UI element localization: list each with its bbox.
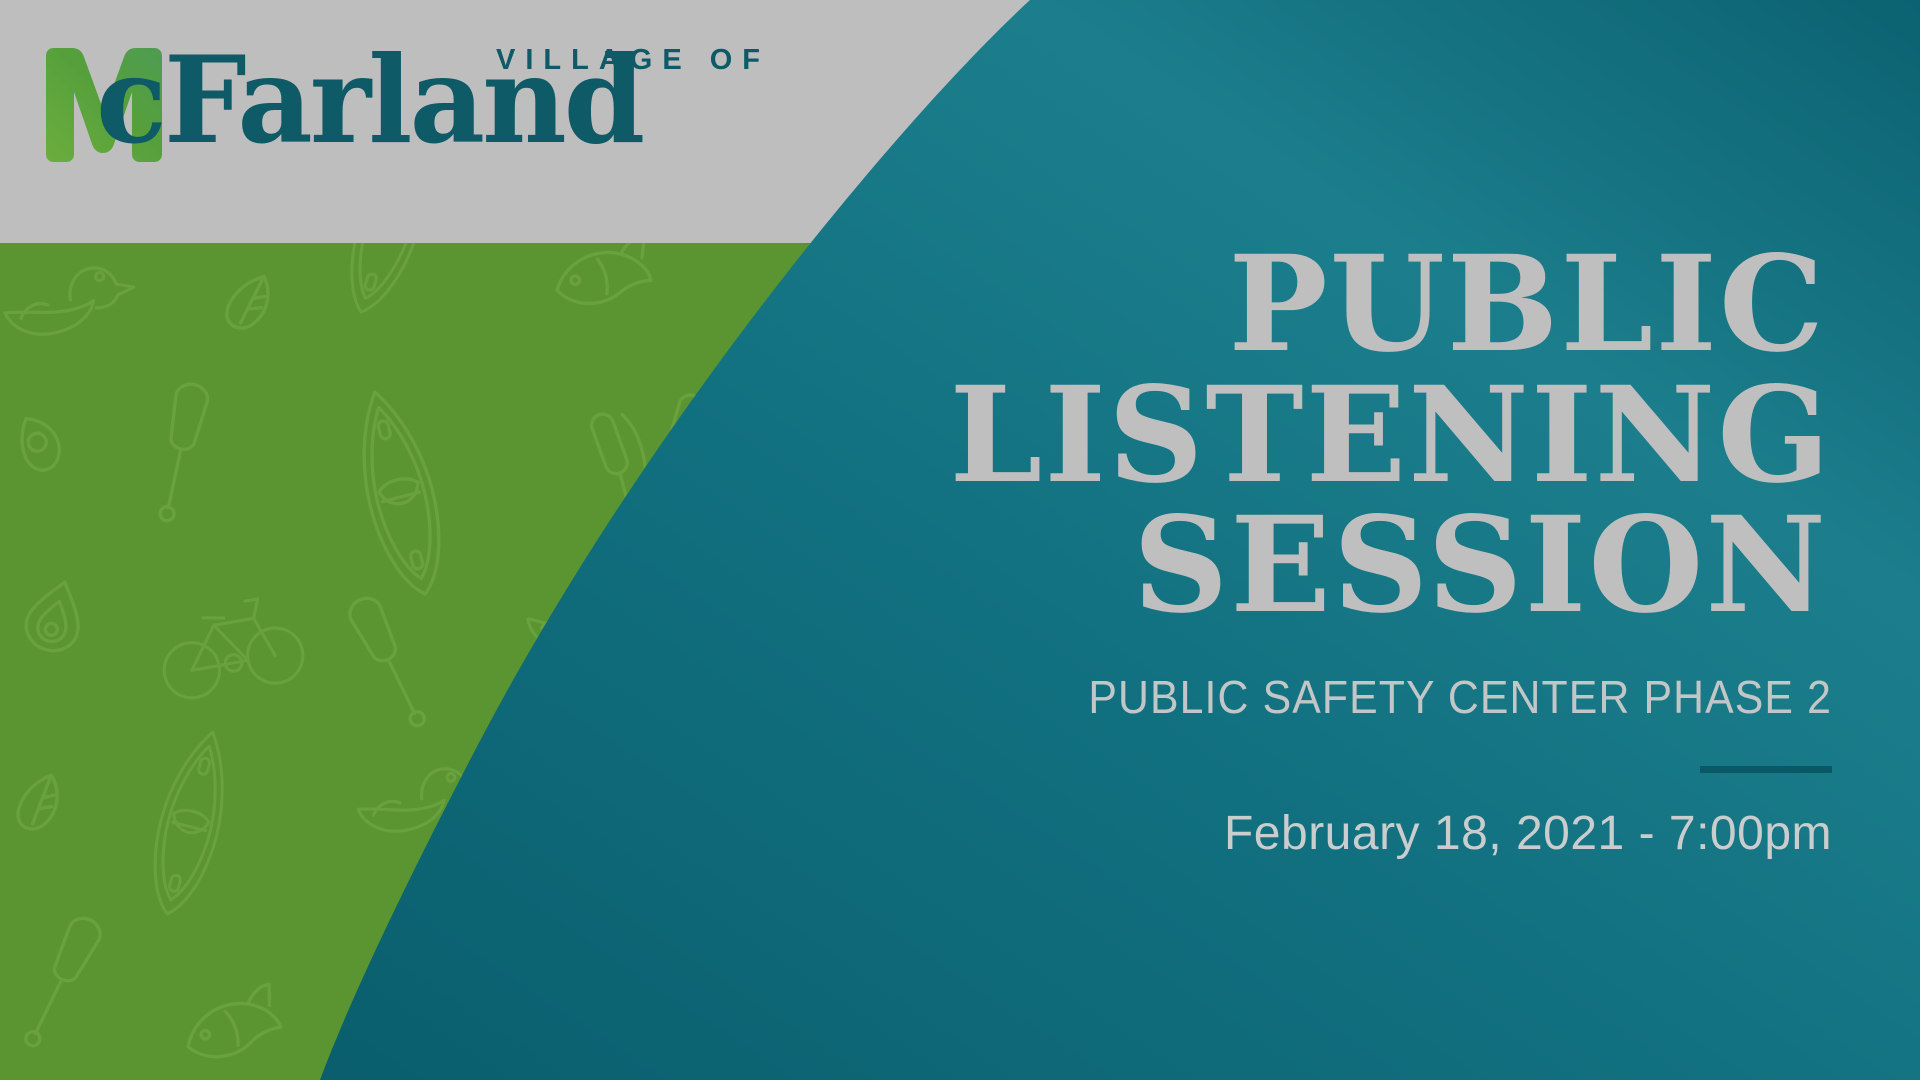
rule-divider xyxy=(1700,766,1832,773)
poster-subtitle: PUBLIC SAFETY CENTER PHASE 2 xyxy=(790,670,1832,724)
page-title: PUBLIC LISTENING SESSION xyxy=(712,240,1832,632)
headline-line-1: PUBLIC xyxy=(712,240,1826,371)
divider-wrap xyxy=(712,760,1832,768)
event-poster: cFarland VILLAGE OF PUBLIC LISTENING SES… xyxy=(0,0,1920,1080)
poster-text-block: PUBLIC LISTENING SESSION PUBLIC SAFETY C… xyxy=(712,240,1832,861)
event-datetime: February 18, 2021 - 7:00pm xyxy=(712,806,1832,861)
headline-line-3: SESSION xyxy=(712,501,1828,632)
headline-line-2: LISTENING xyxy=(712,371,1832,502)
logo-eyebrow-village-of: VILLAGE OF xyxy=(496,44,770,77)
